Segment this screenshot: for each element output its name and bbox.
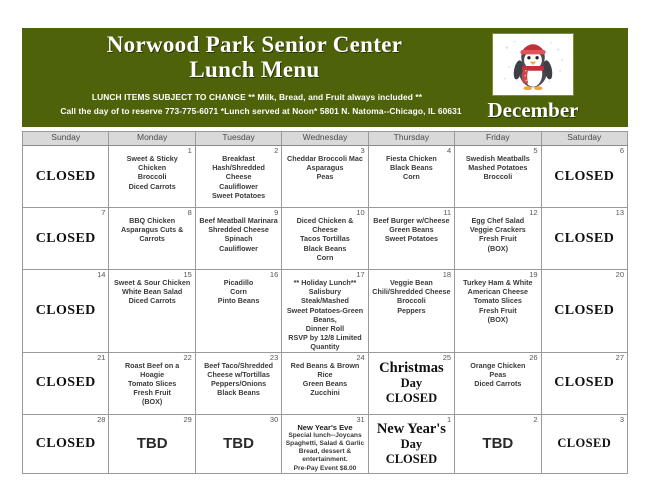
calendar-day-cell[interactable]: 19Turkey Ham & WhiteAmerican CheeseTomat…	[455, 270, 541, 353]
day-number: 1	[188, 146, 192, 155]
holiday-closed-block: New Year'sDayCLOSED	[369, 415, 454, 473]
menu-item: Corn	[285, 253, 364, 262]
menu-item: Zucchini	[285, 388, 364, 397]
day-number: 3	[620, 415, 624, 424]
day-number: 2	[274, 146, 278, 155]
day-number: 25	[443, 353, 451, 362]
calendar-header-row: Sunday Monday Tuesday Wednesday Thursday…	[23, 132, 628, 146]
weekday-header-thursday: Thursday	[368, 132, 454, 146]
menu-item: Corn	[372, 172, 451, 181]
calendar-day-cell[interactable]: 25ChristmasDayCLOSED	[368, 352, 454, 414]
menu-item: RSVP by 12/8 Limited Quantity	[285, 333, 364, 351]
calendar-day-cell[interactable]: 3Cheddar Broccoli MacAsparagusPeas	[282, 146, 368, 208]
menu-item: Green Beans	[285, 379, 364, 388]
calendar-day-cell[interactable]: 16PicadilloCornPinto Beans	[195, 270, 281, 353]
menu-item: American Cheese	[458, 287, 537, 296]
menu-items: Cheddar Broccoli MacAsparagusPeas	[282, 146, 367, 182]
day-number: 2	[533, 415, 537, 424]
calendar-day-cell[interactable]: 2TBD	[455, 414, 541, 473]
menu-items: Egg Chef SaladVeggie CrackersFresh Fruit…	[455, 208, 540, 253]
menu-item: Black Beans	[199, 388, 278, 397]
menu-item: Diced Carrots	[112, 182, 191, 191]
closed-label: CLOSED	[386, 391, 437, 406]
menu-items: Red Beans & Brown RiceGreen BeansZucchin…	[282, 353, 367, 398]
calendar-day-cell[interactable]: 6CLOSED	[541, 146, 627, 208]
menu-item: Fresh Fruit	[112, 388, 191, 397]
menu-item: entertainment.	[285, 456, 364, 464]
menu-item: Fresh Fruit	[458, 306, 537, 315]
calendar-week-row: 14CLOSED15Sweet & Sour ChickenWhite Bean…	[23, 270, 628, 353]
holiday-name-line1: New Year's	[377, 421, 446, 437]
winter-penguin-clipart	[492, 33, 574, 96]
menu-item: Beef Burger w/Cheese	[372, 216, 451, 225]
day-number: 10	[356, 208, 364, 217]
calendar-day-cell[interactable]: 27CLOSED	[541, 352, 627, 414]
day-number: 8	[188, 208, 192, 217]
menu-item: Asparagus Cuts & Carrots	[112, 225, 191, 243]
day-number: 31	[356, 415, 364, 424]
page-title-line1: Norwood Park Senior Center	[22, 32, 487, 57]
calendar-day-cell[interactable]: 20CLOSED	[541, 270, 627, 353]
calendar-day-cell[interactable]: 18Veggie BeanChili/Shredded CheeseBrocco…	[368, 270, 454, 353]
menu-item: Tomato Slices	[458, 296, 537, 305]
event-title: New Year's Eve	[285, 423, 364, 432]
day-number: 19	[529, 270, 537, 279]
day-number: 23	[270, 353, 278, 362]
closed-label: CLOSED	[386, 452, 437, 467]
day-number: 1	[447, 415, 451, 424]
menu-item: Picadillo	[199, 278, 278, 287]
calendar-body: CLOSED1Sweet & Sticky ChickenBroccoliDic…	[23, 146, 628, 474]
calendar-day-cell[interactable]: 12Egg Chef SaladVeggie CrackersFresh Fru…	[455, 208, 541, 270]
calendar-day-cell[interactable]: 22Roast Beef on a HoagieTomato SlicesFre…	[109, 352, 195, 414]
menu-item: Tacos Tortillas	[285, 234, 364, 243]
day-number: 4	[447, 146, 451, 155]
menu-item: Spaghetti, Salad & Garlic	[285, 440, 364, 448]
menu-item: Chili/Shredded Cheese	[372, 287, 451, 296]
disclaimer-text: LUNCH ITEMS SUBJECT TO CHANGE ** Milk, B…	[22, 92, 492, 102]
menu-item: Black Beans	[372, 163, 451, 172]
menu-items: Breakfast Hash/Shredded CheeseCauliflowe…	[196, 146, 281, 200]
menu-item: (BOX)	[112, 397, 191, 406]
calendar-day-cell[interactable]: 13CLOSED	[541, 208, 627, 270]
menu-items: PicadilloCornPinto Beans	[196, 270, 281, 306]
calendar-day-cell[interactable]: 28CLOSED	[23, 414, 109, 473]
calendar-day-cell[interactable]: 1Sweet & Sticky ChickenBroccoliDiced Car…	[109, 146, 195, 208]
calendar-day-cell[interactable]: 5Swedish MeatballsMashed PotatoesBroccol…	[455, 146, 541, 208]
closed-label: CLOSED	[542, 353, 627, 414]
calendar-day-cell[interactable]: 7CLOSED	[23, 208, 109, 270]
closed-label: CLOSED	[542, 208, 627, 269]
menu-item: Sweet Potatoes	[199, 191, 278, 200]
day-number: 14	[97, 270, 105, 279]
weekday-header-friday: Friday	[455, 132, 541, 146]
menu-item: Broccoli	[458, 172, 537, 181]
day-number: 6	[620, 146, 624, 155]
menu-item: Mashed Potatoes	[458, 163, 537, 172]
menu-item: Veggie Crackers	[458, 225, 537, 234]
menu-item: Pinto Beans	[199, 296, 278, 305]
calendar-week-row: 7CLOSED8BBQ ChickenAsparagus Cuts & Carr…	[23, 208, 628, 270]
menu-item: Egg Chef Salad	[458, 216, 537, 225]
menu-item: Turkey Ham & White	[458, 278, 537, 287]
contact-text: Call the day of to reserve 773-775-6071 …	[22, 106, 500, 116]
closed-label: CLOSED	[23, 353, 108, 414]
day-number: 28	[97, 415, 105, 424]
day-number: 22	[184, 353, 192, 362]
menu-items: ** Holiday Lunch**Salisbury Steak/Mashed…	[282, 270, 367, 352]
menu-items: Beef Taco/ShreddedCheese w/TortillasPepp…	[196, 353, 281, 398]
menu-item: Beef Meatball Marinara	[199, 216, 278, 225]
header-banner: Norwood Park Senior Center Lunch Menu LU…	[22, 28, 628, 127]
menu-item: (BOX)	[458, 315, 537, 324]
menu-item: Peas	[458, 370, 537, 379]
day-number: 7	[101, 208, 105, 217]
calendar-table: Sunday Monday Tuesday Wednesday Thursday…	[22, 131, 628, 474]
menu-item: White Bean Salad	[112, 287, 191, 296]
weekday-header-tuesday: Tuesday	[195, 132, 281, 146]
calendar-day-cell[interactable]: 14CLOSED	[23, 270, 109, 353]
calendar-day-cell[interactable]: 3CLOSED	[541, 414, 627, 473]
menu-item: Sweet & Sour Chicken	[112, 278, 191, 287]
day-number: 12	[529, 208, 537, 217]
calendar-day-cell[interactable]: 2Breakfast Hash/Shredded CheeseCauliflow…	[195, 146, 281, 208]
calendar-day-cell[interactable]: 1New Year'sDayCLOSED	[368, 414, 454, 473]
day-number: 11	[443, 208, 451, 217]
holiday-lunch-heading: ** Holiday Lunch**	[285, 278, 364, 287]
closed-label: CLOSED	[23, 146, 108, 207]
menu-item: Breakfast Hash/Shredded Cheese	[199, 154, 278, 182]
day-number: 20	[616, 270, 624, 279]
title-block: Norwood Park Senior Center Lunch Menu	[22, 32, 487, 82]
closed-label: CLOSED	[542, 146, 627, 207]
menu-item: Diced Chicken & Cheese	[285, 216, 364, 234]
menu-items: Veggie BeanChili/Shredded CheeseBroccoli…	[369, 270, 454, 315]
day-number: 17	[356, 270, 364, 279]
menu-item: Dinner Roll	[285, 324, 364, 333]
calendar-day-cell[interactable]: 31New Year's EveSpecial lunch--JoycansSp…	[282, 414, 368, 473]
menu-item: Spinach	[199, 234, 278, 243]
menu-items: New Year's EveSpecial lunch--JoycansSpag…	[282, 415, 367, 473]
weekday-header-sunday: Sunday	[23, 132, 109, 146]
calendar-day-cell[interactable]: 29TBD	[109, 414, 195, 473]
closed-label: CLOSED	[23, 415, 108, 473]
weekday-header-saturday: Saturday	[541, 132, 627, 146]
closed-label: CLOSED	[542, 415, 627, 473]
menu-item: Orange Chicken	[458, 361, 537, 370]
menu-item: Sweet Potatoes-Green Beans,	[285, 306, 364, 324]
day-number: 13	[616, 208, 624, 217]
calendar-week-row: 28CLOSED29TBD30TBD31New Year's EveSpecia…	[23, 414, 628, 473]
day-number: 18	[443, 270, 451, 279]
menu-item: Roast Beef on a Hoagie	[112, 361, 191, 379]
menu-items: Beef Meatball MarinaraShredded CheeseSpi…	[196, 208, 281, 253]
holiday-name-line2: Day	[401, 376, 423, 391]
holiday-name-line2: Day	[401, 437, 423, 452]
menu-item: Peppers	[372, 306, 451, 315]
menu-item: Red Beans & Brown Rice	[285, 361, 364, 379]
menu-items: BBQ ChickenAsparagus Cuts & Carrots	[109, 208, 194, 244]
menu-items: Diced Chicken & CheeseTacos TortillasBla…	[282, 208, 367, 262]
menu-item: Pre-Pay Event $8.00	[285, 465, 364, 473]
day-number: 27	[616, 353, 624, 362]
day-number: 9	[274, 208, 278, 217]
calendar-day-cell[interactable]: 4Fiesta ChickenBlack BeansCorn	[368, 146, 454, 208]
tbd-label: TBD	[455, 415, 540, 473]
menu-item: Black Beans	[285, 244, 364, 253]
menu-item: Cheese w/Tortillas	[199, 370, 278, 379]
holiday-name-line1: Christmas	[379, 360, 443, 376]
menu-items: Swedish MeatballsMashed PotatoesBroccoli	[455, 146, 540, 182]
day-number: 21	[97, 353, 105, 362]
day-number: 29	[184, 415, 192, 424]
menu-item: Special lunch--Joycans	[285, 432, 364, 440]
menu-item: Sweet & Sticky Chicken	[112, 154, 191, 172]
calendar-day-cell[interactable]: 10Diced Chicken & CheeseTacos TortillasB…	[282, 208, 368, 270]
day-number: 26	[529, 353, 537, 362]
lunch-menu-page: Norwood Park Senior Center Lunch Menu LU…	[0, 0, 650, 503]
calendar-day-cell[interactable]: 21CLOSED	[23, 352, 109, 414]
menu-item: Beef Taco/Shredded	[199, 361, 278, 370]
day-number: 5	[533, 146, 537, 155]
closed-label: CLOSED	[23, 208, 108, 269]
menu-item: Cauliflower	[199, 244, 278, 253]
day-number: 30	[270, 415, 278, 424]
calendar-day-cell[interactable]: 24Red Beans & Brown RiceGreen BeansZucch…	[282, 352, 368, 414]
menu-item: Shredded Cheese	[199, 225, 278, 234]
menu-item: Diced Carrots	[112, 296, 191, 305]
day-number: 24	[356, 353, 364, 362]
menu-items: Fiesta ChickenBlack BeansCorn	[369, 146, 454, 182]
weekday-header-wednesday: Wednesday	[282, 132, 368, 146]
closed-label: CLOSED	[23, 270, 108, 352]
menu-items: Sweet & Sour ChickenWhite Bean SaladDice…	[109, 270, 194, 306]
menu-item: Green Beans	[372, 225, 451, 234]
calendar-day-cell[interactable]: 8BBQ ChickenAsparagus Cuts & Carrots	[109, 208, 195, 270]
calendar-day-cell[interactable]: 30TBD	[195, 414, 281, 473]
calendar-day-cell[interactable]: 15Sweet & Sour ChickenWhite Bean SaladDi…	[109, 270, 195, 353]
closed-label: CLOSED	[542, 270, 627, 352]
menu-items: Roast Beef on a HoagieTomato SlicesFresh…	[109, 353, 194, 407]
menu-item: Fiesta Chicken	[372, 154, 451, 163]
tbd-label: TBD	[196, 415, 281, 473]
menu-item: Peas	[285, 172, 364, 181]
calendar-day-cell[interactable]: 23Beef Taco/ShreddedCheese w/TortillasPe…	[195, 352, 281, 414]
holiday-closed-block: ChristmasDayCLOSED	[369, 353, 454, 414]
menu-item: Broccoli	[372, 296, 451, 305]
month-label: December	[465, 98, 601, 123]
menu-item: Cheddar Broccoli Mac	[285, 154, 364, 163]
day-number: 3	[361, 146, 365, 155]
menu-items: Beef Burger w/CheeseGreen BeansSweet Pot…	[369, 208, 454, 244]
menu-item: Tomato Slices	[112, 379, 191, 388]
calendar-day-cell[interactable]: CLOSED	[23, 146, 109, 208]
menu-item: Asparagus	[285, 163, 364, 172]
menu-item: BBQ Chicken	[112, 216, 191, 225]
menu-item: (BOX)	[458, 244, 537, 253]
calendar-day-cell[interactable]: 17** Holiday Lunch**Salisbury Steak/Mash…	[282, 270, 368, 353]
menu-items: Turkey Ham & WhiteAmerican CheeseTomato …	[455, 270, 540, 324]
page-title-line2: Lunch Menu	[22, 57, 487, 82]
menu-item: Veggie Bean	[372, 278, 451, 287]
menu-item: Broccoli	[112, 172, 191, 181]
calendar-day-cell[interactable]: 9Beef Meatball MarinaraShredded CheeseSp…	[195, 208, 281, 270]
calendar-day-cell[interactable]: 26Orange ChickenPeasDiced Carrots	[455, 352, 541, 414]
calendar-day-cell[interactable]: 11Beef Burger w/CheeseGreen BeansSweet P…	[368, 208, 454, 270]
menu-item: Salisbury Steak/Mashed	[285, 287, 364, 305]
menu-item: Sweet Potatoes	[372, 234, 451, 243]
menu-item: Peppers/Onions	[199, 379, 278, 388]
menu-item: Bread, dessert &	[285, 448, 364, 456]
menu-items: Orange ChickenPeasDiced Carrots	[455, 353, 540, 389]
menu-item: Diced Carrots	[458, 379, 537, 388]
day-number: 15	[184, 270, 192, 279]
tbd-label: TBD	[109, 415, 194, 473]
day-number: 16	[270, 270, 278, 279]
menu-item: Swedish Meatballs	[458, 154, 537, 163]
menu-item: Fresh Fruit	[458, 234, 537, 243]
menu-item: Cauliflower	[199, 182, 278, 191]
weekday-header-monday: Monday	[109, 132, 195, 146]
calendar-week-row: 21CLOSED22Roast Beef on a HoagieTomato S…	[23, 352, 628, 414]
menu-items: Sweet & Sticky ChickenBroccoliDiced Carr…	[109, 146, 194, 191]
calendar-week-row: CLOSED1Sweet & Sticky ChickenBroccoliDic…	[23, 146, 628, 208]
menu-item: Corn	[199, 287, 278, 296]
